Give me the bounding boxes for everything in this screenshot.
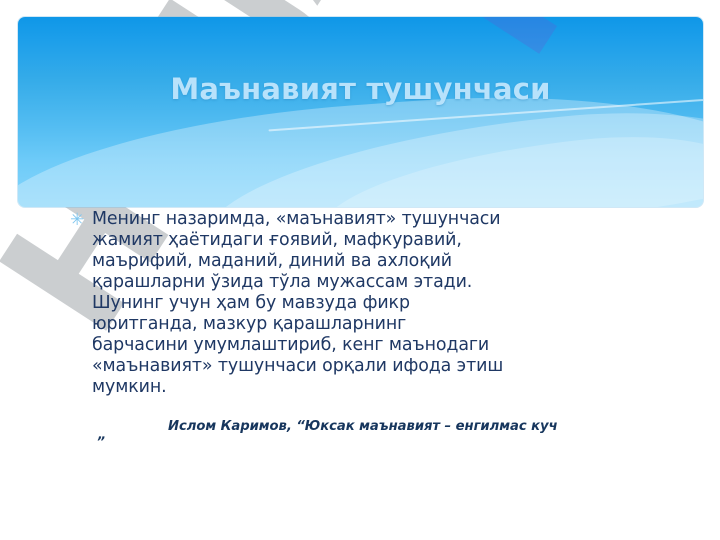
page-title: Маънавият тушунчаси (18, 72, 703, 106)
title-banner: HUJJAT24 Маънавият тушунчаси (18, 17, 703, 207)
slide-canvas: HUJJAT24 HUJJAT24 Маънавият тушунчаси ✳ … (0, 0, 720, 540)
banner-swoosh-middle (194, 93, 703, 207)
citation-attribution: Ислом Каримов, “Юксак маънавият – енгилм… (168, 419, 688, 434)
banner-watermark-text: HUJJAT24 (413, 17, 703, 79)
asterisk-bullet-icon: ✳ (70, 209, 92, 231)
banner-swoosh-lower (315, 120, 703, 207)
trailing-quote-mark: „ (98, 428, 106, 443)
bulleted-paragraph: ✳ Менинг назаримда, «маънавият» тушунчас… (70, 209, 670, 398)
body-paragraph-text: Менинг назаримда, «маънавият» тушунчаси … (92, 209, 670, 398)
banner-watermark: HUJJAT24 (18, 17, 703, 207)
body-content: ✳ Менинг назаримда, «маънавият» тушунчас… (70, 209, 670, 398)
